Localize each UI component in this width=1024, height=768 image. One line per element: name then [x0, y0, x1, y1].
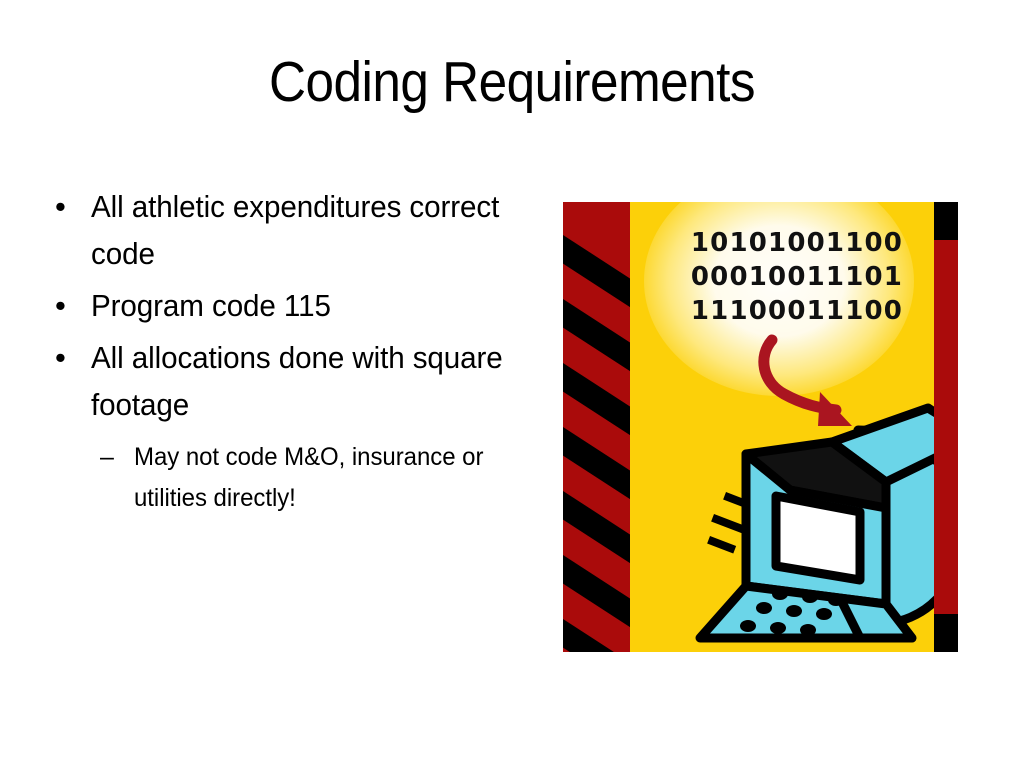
page-title: Coding Requirements [51, 52, 973, 114]
bullet-text: All allocations done with square footage [91, 334, 505, 428]
striped-border-right [934, 202, 958, 652]
binary-line: 11100011100 [658, 294, 934, 328]
border-cap [934, 202, 958, 240]
bullet-marker-icon: • [55, 282, 91, 329]
sub-list-item: – May not code M&O, insurance or utiliti… [100, 437, 525, 519]
binary-line: 00010011101 [658, 260, 934, 294]
sub-bullet-text: May not code M&O, insurance or utilities… [134, 437, 509, 519]
clipart-image: 10101001100 00010011101 11100011100 [563, 202, 958, 652]
yellow-background: 10101001100 00010011101 11100011100 [630, 202, 934, 652]
striped-border-left [563, 202, 630, 652]
binary-line: 10101001100 [658, 226, 934, 260]
border-cap [934, 614, 958, 652]
binary-code-text: 10101001100 00010011101 11100011100 [658, 226, 934, 328]
bullet-marker-icon: • [55, 183, 91, 230]
sub-bullet-list: – May not code M&O, insurance or utiliti… [100, 437, 525, 519]
list-item: • All athletic expenditures correct code [55, 183, 525, 277]
slide: Coding Requirements • All athletic expen… [0, 0, 1024, 768]
list-item: • Program code 115 [55, 282, 525, 329]
list-item: • All allocations done with square foota… [55, 334, 525, 428]
bullet-list: • All athletic expenditures correct code… [55, 183, 525, 519]
bullet-text: Program code 115 [91, 282, 505, 329]
bullet-text: All athletic expenditures correct code [91, 183, 505, 277]
dash-marker-icon: – [100, 437, 134, 478]
laptop-illustration [690, 390, 934, 645]
bullet-marker-icon: • [55, 334, 91, 381]
